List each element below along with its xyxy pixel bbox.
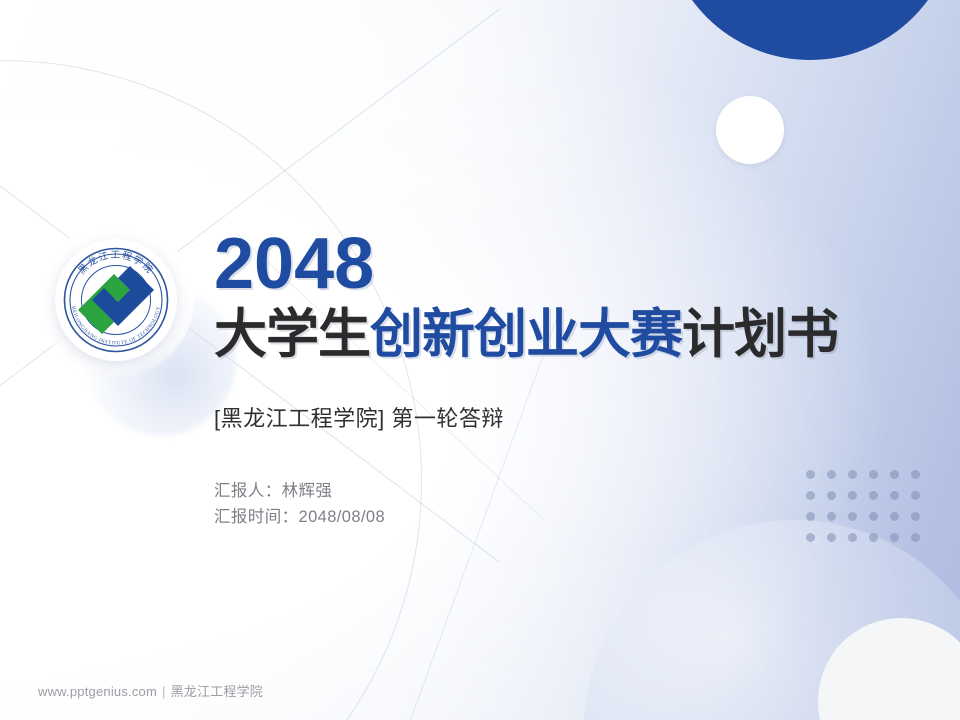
main-title-part-2: 创新创业大赛 [370,305,682,364]
presenter-line: 汇报人：林辉强 [214,479,914,505]
footer-separator: | [162,684,166,699]
logo-seal-icon: 黑龙江工程学院 HEILONGJIANG INSTITUTE OF TECHNO… [55,239,177,361]
subtitle: [黑龙江工程学院] 第一轮答辩 [214,401,914,433]
year-heading: 2048 [214,228,914,300]
main-title-part-3: 计划书 [682,305,838,364]
footer-site: www.pptgenius.com [38,684,157,699]
university-logo: 黑龙江工程学院 HEILONGJIANG INSTITUTE OF TECHNO… [55,239,177,361]
main-title-part-1: 大学生 [214,305,370,364]
slide-content: 2048 大学生创新创业大赛计划书 [黑龙江工程学院] 第一轮答辩 汇报人：林辉… [214,228,914,530]
presentation-slide: 黑龙江工程学院 HEILONGJIANG INSTITUTE OF TECHNO… [0,0,960,720]
meta-block: 汇报人：林辉强 汇报时间：2048/08/08 [214,479,914,530]
footer-institution: 黑龙江工程学院 [171,684,263,699]
footer: www.pptgenius.com|黑龙江工程学院 [38,681,263,700]
main-title: 大学生创新创业大赛计划书 [214,306,914,363]
date-line: 汇报时间：2048/08/08 [214,505,914,531]
decorative-circle-white-notch [716,96,784,164]
